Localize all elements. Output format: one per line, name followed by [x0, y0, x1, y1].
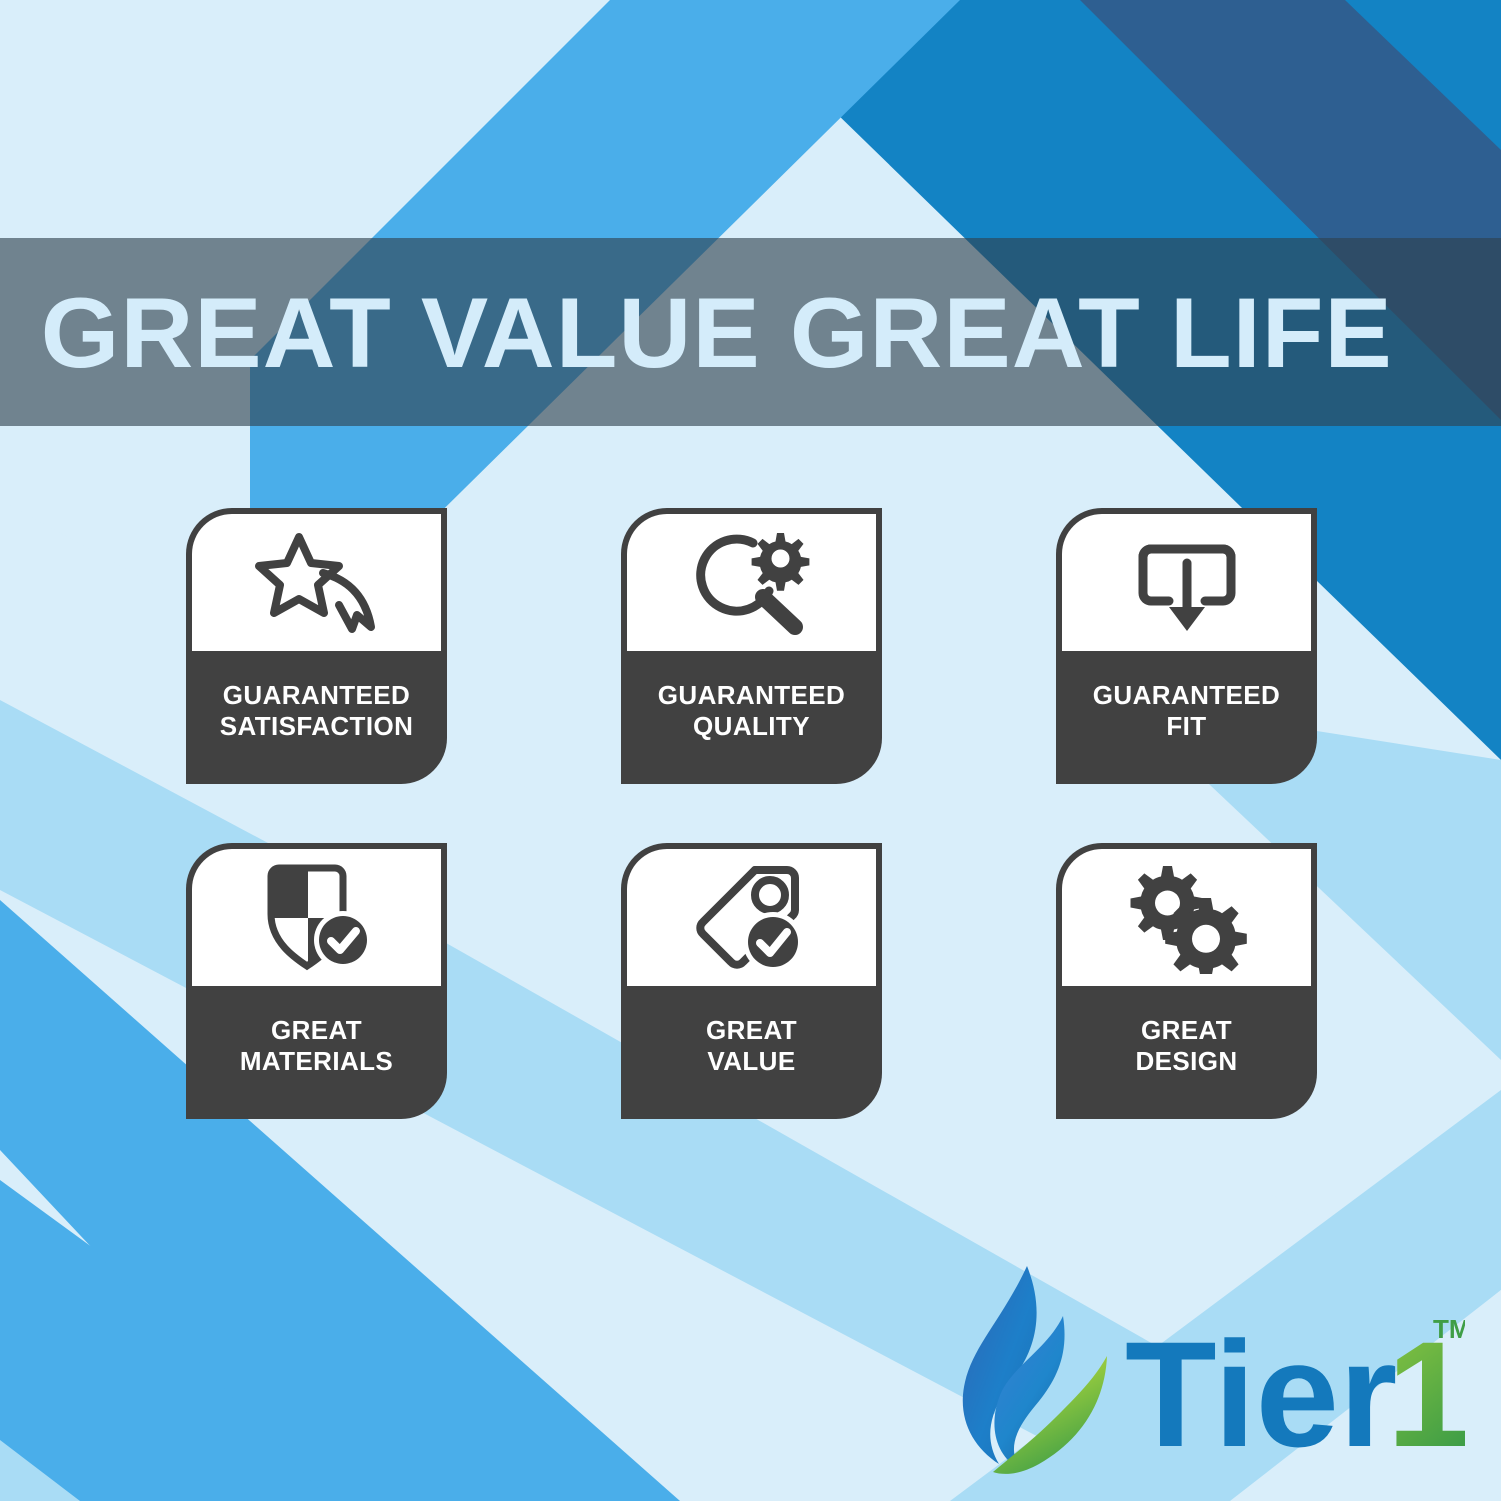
- feature-card-guaranteed-satisfaction[interactable]: GUARANTEED SATISFACTION: [186, 508, 447, 784]
- gears-icon: [1127, 862, 1247, 974]
- card-icon-panel: [1062, 514, 1311, 651]
- magnifier-gear-icon: [691, 527, 813, 639]
- card-icon-panel: [192, 514, 441, 651]
- card-label: GREAT VALUE: [621, 986, 882, 1119]
- feature-card-row-1: GUARANTEED SATISFACTION: [186, 508, 1336, 784]
- card-label: GREAT MATERIALS: [186, 986, 447, 1119]
- feature-card-great-design[interactable]: GREAT DESIGN: [1056, 843, 1317, 1119]
- insert-arrow-box-icon: [1135, 527, 1239, 639]
- feature-card-grid: GUARANTEED SATISFACTION: [186, 508, 1336, 1178]
- feature-card-guaranteed-fit[interactable]: GUARANTEED FIT: [1056, 508, 1317, 784]
- shield-check-icon: [259, 862, 375, 974]
- feature-card-great-value[interactable]: GREAT VALUE: [621, 843, 882, 1119]
- flame-leaf-icon: [963, 1266, 1107, 1474]
- page-title: GREAT VALUE GREAT LIFE: [0, 283, 1393, 382]
- card-icon-panel: [627, 514, 876, 651]
- card-label: GUARANTEED FIT: [1056, 651, 1317, 784]
- brand-logo[interactable]: Tier 1 TM: [955, 1258, 1465, 1488]
- card-icon-panel: [192, 849, 441, 986]
- card-icon-panel: [627, 849, 876, 986]
- feature-card-row-2: GREAT MATERIALS: [186, 843, 1336, 1119]
- feature-card-great-materials[interactable]: GREAT MATERIALS: [186, 843, 447, 1119]
- shooting-star-icon: [253, 527, 381, 639]
- card-label: GUARANTEED QUALITY: [621, 651, 882, 784]
- logo-trademark: TM: [1433, 1314, 1465, 1344]
- logo-wordmark-tier: Tier: [1125, 1310, 1397, 1478]
- card-icon-panel: [1062, 849, 1311, 986]
- card-label: GUARANTEED SATISFACTION: [186, 651, 447, 784]
- price-tag-check-icon: [691, 862, 813, 974]
- card-label: GREAT DESIGN: [1056, 986, 1317, 1119]
- brand-logo-svg: Tier 1 TM: [955, 1258, 1465, 1488]
- feature-card-guaranteed-quality[interactable]: GUARANTEED QUALITY: [621, 508, 882, 784]
- headline-banner: GREAT VALUE GREAT LIFE: [0, 238, 1501, 426]
- poster: GREAT VALUE GREAT LIFE GUARANTEED SATISF…: [0, 0, 1501, 1501]
